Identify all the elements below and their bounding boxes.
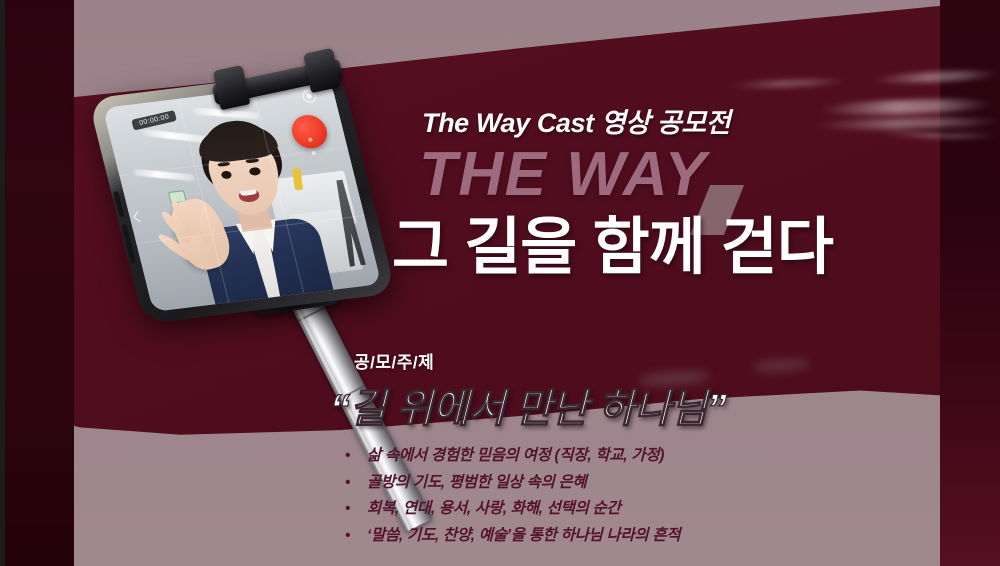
- list-item: • 골방의 기도, 평범한 일상 속의 은혜: [345, 475, 905, 491]
- camera-ui-dot: [308, 137, 313, 141]
- list-item: • 회복, 연대, 용서, 사랑, 화해, 선택의 순간: [345, 501, 905, 517]
- list-item: • 삶 속에서 경험한 믿음의 여정 (직장, 학교, 가정): [345, 448, 905, 464]
- text-column: The Way Cast 영상 공모전 THE WAY 그 길을 함께 걷다 공…: [345, 0, 945, 566]
- right-dark-stripe: [940, 0, 1000, 566]
- bullet-marker: •: [345, 501, 367, 516]
- bullet-list: • 삶 속에서 경험한 믿음의 여정 (직장, 학교, 가정) • 골방의 기도…: [345, 448, 905, 554]
- banner-kicker: The Way Cast 영상 공모전: [422, 101, 730, 140]
- left-edge-border: [0, 0, 5, 566]
- banner-wordmark: THE WAY: [419, 144, 707, 206]
- list-item-label: 골방의 기도, 평범한 일상 속의 은혜: [367, 475, 586, 491]
- banner-headline: 그 길을 함께 걷다: [392, 215, 833, 280]
- list-item-label: ‘말씀, 기도, 찬양, 예술’을 통한 하나님 나라의 흔적: [367, 528, 680, 544]
- promo-banner: 00:00:00 The Way Cast 영상 공모전 THE WAY 그 길…: [0, 0, 1000, 566]
- list-item: • ‘말씀, 기도, 찬양, 예술’을 통한 하나님 나라의 흔적: [345, 528, 905, 544]
- phone-screen: 00:00:00: [103, 80, 382, 312]
- theme-label: 공/모/주/제: [354, 348, 434, 373]
- list-item-label: 삶 속에서 경험한 믿음의 여정 (직장, 학교, 가정): [367, 448, 664, 464]
- phone-volume-button: [113, 191, 124, 217]
- bullet-marker: •: [345, 528, 367, 543]
- list-item-label: 회복, 연대, 용서, 사랑, 화해, 선택의 순간: [367, 501, 620, 517]
- bullet-marker: •: [345, 448, 367, 463]
- theme-quote: “길 위에서 만난 하나님”: [330, 376, 726, 434]
- left-dark-stripe: [0, 0, 74, 566]
- clamp-jaw: [303, 48, 341, 93]
- bullet-marker: •: [345, 475, 367, 490]
